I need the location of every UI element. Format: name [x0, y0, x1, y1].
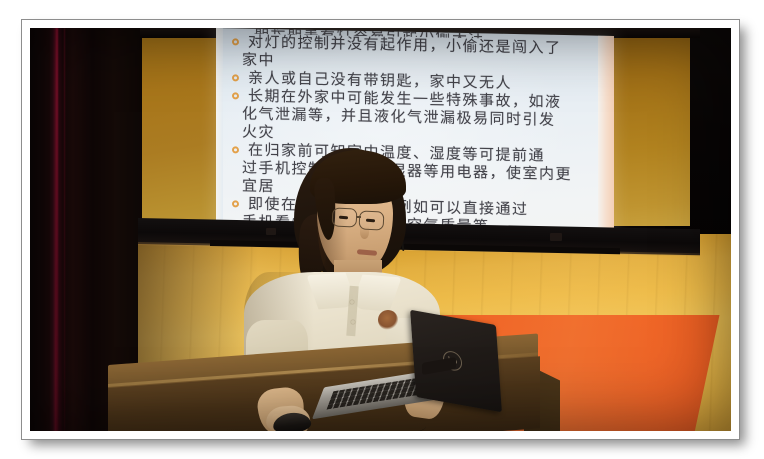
presenter-eye-right [366, 219, 375, 223]
glasses-bridge [356, 216, 361, 218]
mouse-cable [306, 419, 426, 431]
laptop-lid: hp [410, 310, 502, 413]
presenter-nose [360, 226, 369, 239]
shirt-chest-emblem [378, 310, 398, 330]
shirt-button-top [350, 300, 354, 304]
presenter-eye-left [339, 216, 348, 220]
photo-frame: 期长期黑着灯容易引起小偷关注 对灯的控制并没有起作用，小偷还是闯入了 家中 亲人… [21, 19, 740, 440]
shirt-button-bottom [351, 320, 355, 324]
auditorium-scene: 期长期黑着灯容易引起小偷关注 对灯的控制并没有起作用，小偷还是闯入了 家中 亲人… [30, 28, 731, 431]
photograph: 期长期黑着灯容易引起小偷关注 对灯的控制并没有起作用，小偷还是闯入了 家中 亲人… [30, 28, 731, 431]
